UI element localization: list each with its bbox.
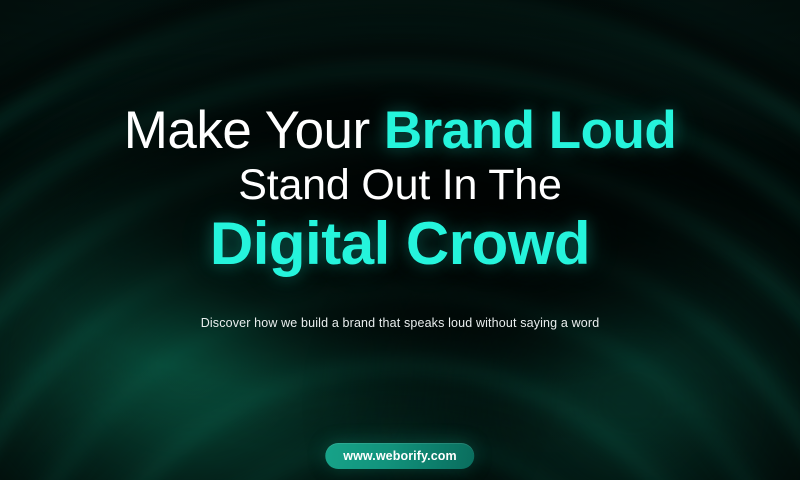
headline-line-1-accent: Brand Loud — [384, 101, 676, 160]
headline-line-1: Make Your Brand Loud — [124, 104, 677, 157]
headline-line-1-plain: Make Your — [124, 101, 384, 160]
headline: Make Your Brand Loud Stand Out In The Di… — [124, 104, 677, 274]
headline-line-3-accent: Digital Crowd — [210, 210, 590, 277]
promo-poster: Make Your Brand Loud Stand Out In The Di… — [0, 0, 800, 480]
subtitle: Discover how we build a brand that speak… — [201, 316, 600, 330]
poster-content: Make Your Brand Loud Stand Out In The Di… — [0, 0, 800, 480]
headline-line-2-plain: Stand Out In The — [238, 161, 562, 209]
headline-line-3: Digital Crowd — [124, 214, 677, 274]
headline-line-2: Stand Out In The — [124, 164, 677, 207]
